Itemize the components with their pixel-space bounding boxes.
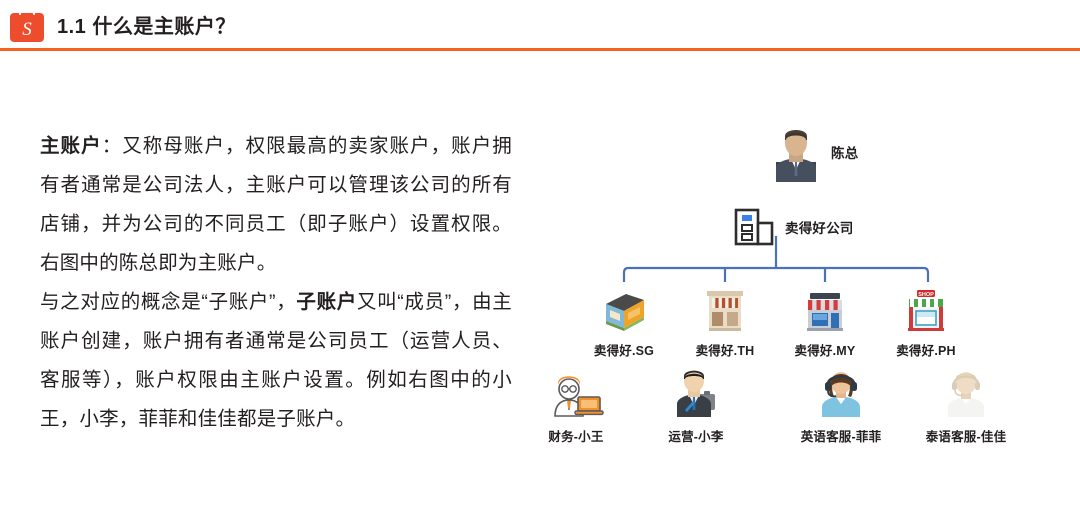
office-building-icon (732, 207, 776, 247)
store-awning-blue-icon (777, 282, 873, 332)
svg-text:S: S (22, 19, 32, 40)
org-node-owner: 陈总 (770, 122, 858, 182)
org-node-shop-sg: 卖得好.SG (576, 282, 672, 359)
org-node-company: 卖得好公司 (732, 207, 854, 247)
paragraph-main-account: 主账户：又称母账户，权限最高的卖家账户，账户拥有者通常是公司法人，主账户可以管理… (40, 127, 512, 283)
org-node-shop-sg-label: 卖得好.SG (576, 340, 672, 359)
org-node-staff-finance-label: 财务-小王 (528, 426, 624, 445)
businessman-avatar-icon (770, 122, 822, 182)
org-node-company-label: 卖得好公司 (785, 217, 854, 237)
paragraph-sub-account: 与之对应的概念是“子账户”，子账户又叫“成员”，由主账户创建，账户拥有者通常是公… (40, 283, 512, 439)
org-node-staff-cs-th-label: 泰语客服-佳佳 (918, 426, 1014, 445)
org-node-staff-operations-label: 运营-小李 (648, 426, 744, 445)
page-title: 1.1 什么是主账户？ (57, 7, 236, 41)
store-shop-sign-green-icon: SHOP (878, 282, 974, 332)
paragraph-2-body-a: 与之对应的概念是“子账户”， (40, 291, 296, 313)
org-node-shop-th: 卖得好.TH (677, 282, 773, 359)
headset-agent-light-icon (918, 368, 1014, 418)
operations-man-icon (648, 368, 744, 418)
header-divider (0, 48, 1080, 51)
headset-agent-female-icon (793, 368, 889, 418)
org-node-staff-operations: 运营-小李 (648, 368, 744, 445)
store-awning-beige-icon (677, 282, 773, 332)
svg-text:SHOP: SHOP (918, 292, 934, 298)
org-node-staff-cs-en: 英语客服-菲菲 (793, 368, 889, 445)
paragraph-1-lead: 主账户 (40, 135, 102, 157)
org-node-shop-ph: SHOP 卖得好.PH (878, 282, 974, 359)
store-isometric-orange-icon (576, 282, 672, 332)
shopee-bag-icon: S (9, 5, 45, 43)
page-header: S 1.1 什么是主账户？ (0, 0, 1080, 48)
org-node-shop-ph-label: 卖得好.PH (878, 340, 974, 359)
org-chart: 陈总 卖得好公司 卖得好.SG (520, 110, 1080, 470)
org-node-staff-cs-en-label: 英语客服-菲菲 (793, 426, 889, 445)
paragraph-2-bold: 子账户 (296, 291, 357, 313)
org-node-owner-label: 陈总 (831, 142, 858, 162)
org-node-shop-th-label: 卖得好.TH (677, 340, 773, 359)
org-node-staff-cs-th: 泰语客服-佳佳 (918, 368, 1014, 445)
accountant-laptop-icon (528, 368, 624, 418)
org-node-shop-my-label: 卖得好.MY (777, 340, 873, 359)
org-node-shop-my: 卖得好.MY (777, 282, 873, 359)
org-node-staff-finance: 财务-小王 (528, 368, 624, 445)
body-text-column: 主账户：又称母账户，权限最高的卖家账户，账户拥有者通常是公司法人，主账户可以管理… (40, 127, 512, 439)
paragraph-1-body: ：又称母账户，权限最高的卖家账户，账户拥有者通常是公司法人，主账户可以管理该公司… (40, 135, 512, 274)
